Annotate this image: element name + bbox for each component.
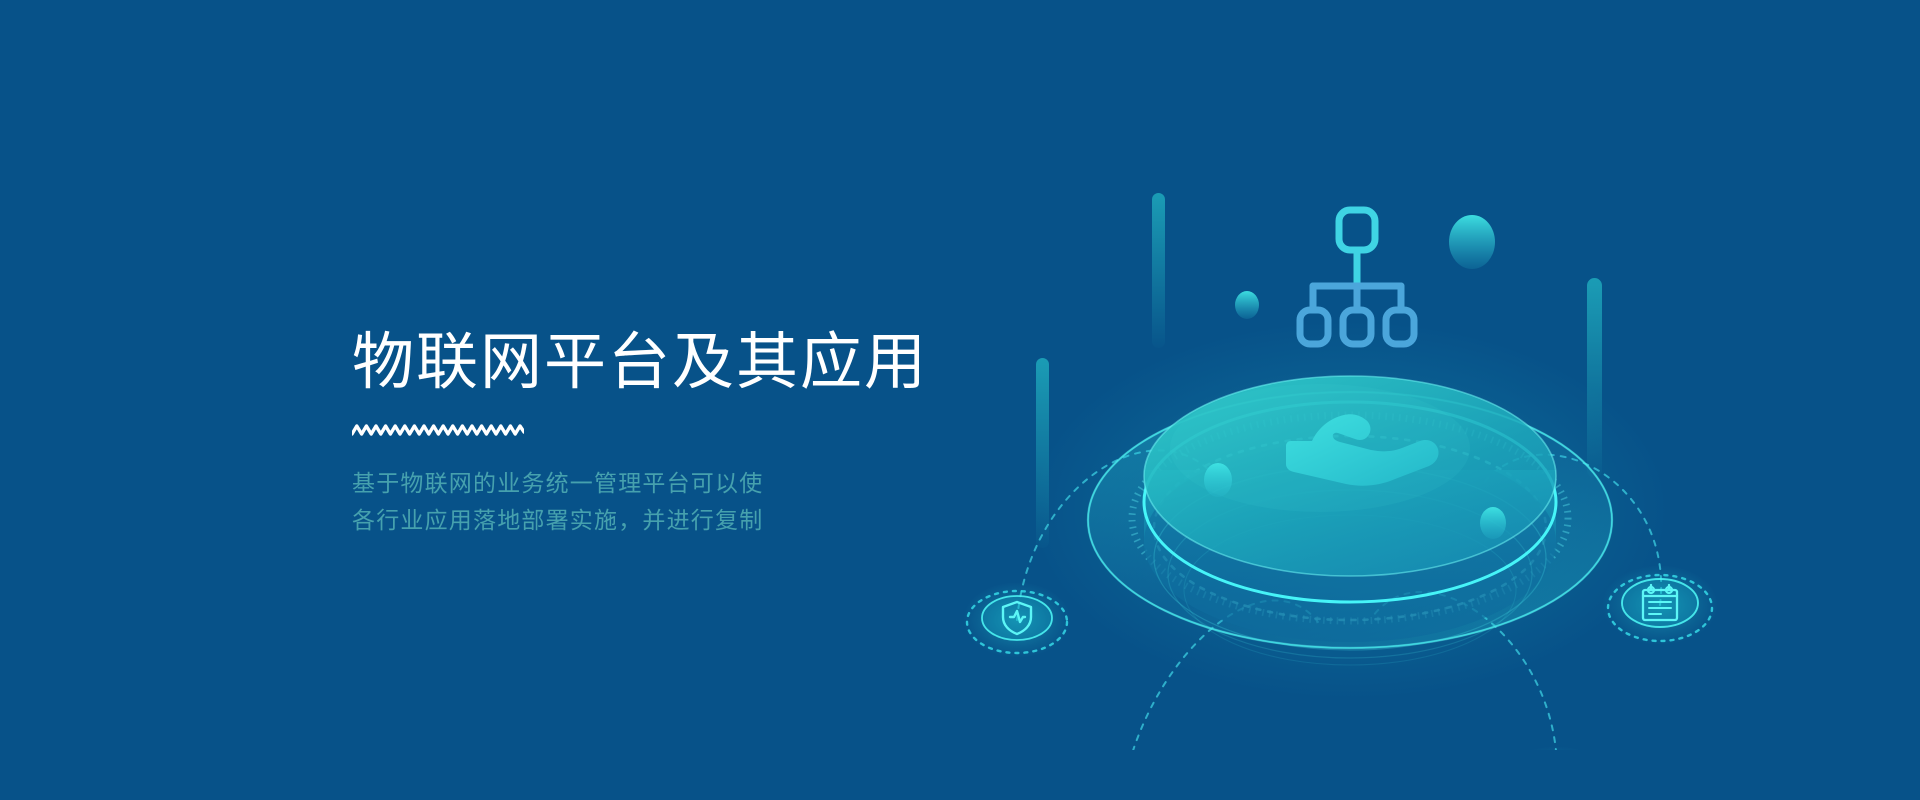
- subtitle-line-1: 基于物联网的业务统一管理平台可以使: [352, 465, 912, 502]
- decor-dot-disc-right: [1480, 507, 1506, 539]
- decor-dots: [1235, 215, 1495, 319]
- decor-dot-disc-left: [1204, 463, 1232, 497]
- decor-dot-large-right: [1449, 215, 1495, 269]
- decor-bar-mid: [1152, 193, 1165, 348]
- node-shield-pulse-icon[interactable]: [963, 582, 1071, 658]
- page-title: 物联网平台及其应用: [352, 330, 1052, 397]
- iot-platform-illustration: [960, 150, 1740, 750]
- decor-dot-small-left: [1235, 291, 1259, 319]
- node-network-graph-icon[interactable]: [1492, 746, 1620, 750]
- zigzag-divider: [352, 423, 524, 435]
- hero-banner: 物联网平台及其应用 基于物联网的业务统一管理平台可以使 各行业应用落地部署实施，…: [0, 0, 1920, 800]
- node-clipboard-icon[interactable]: [1602, 565, 1718, 645]
- subtitle-line-2: 各行业应用落地部署实施，并进行复制: [352, 502, 912, 539]
- page-subtitle: 基于物联网的业务统一管理平台可以使 各行业应用落地部署实施，并进行复制: [352, 465, 912, 540]
- hero-text-block: 物联网平台及其应用 基于物联网的业务统一管理平台可以使 各行业应用落地部署实施，…: [352, 330, 1052, 539]
